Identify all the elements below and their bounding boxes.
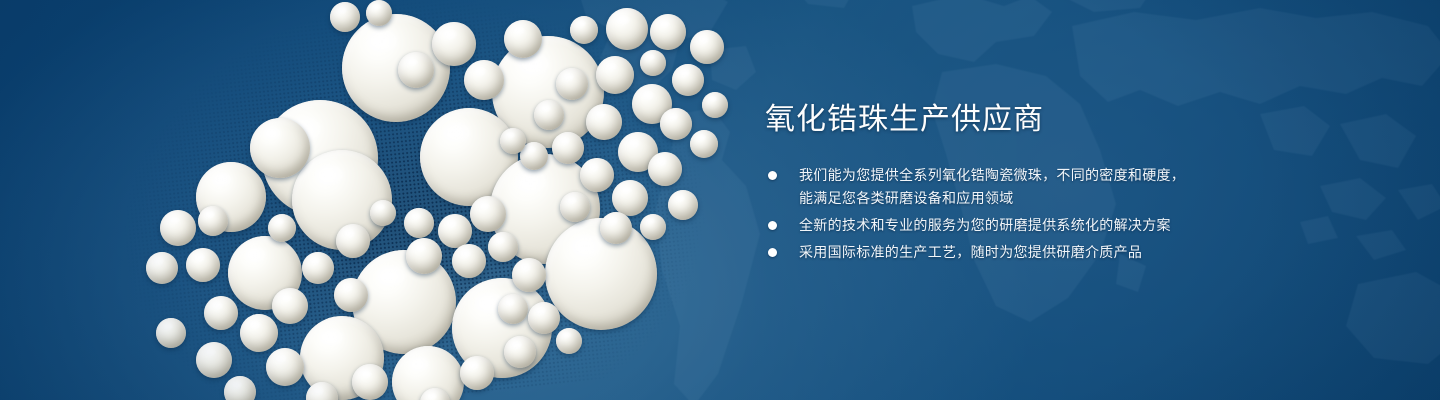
hero-banner: 氧化锆珠生产供应商 我们能为您提供全系列氧化锆陶瓷微珠，不同的密度和硬度， 能满… xyxy=(0,0,1440,400)
background-vignette xyxy=(0,0,1440,400)
